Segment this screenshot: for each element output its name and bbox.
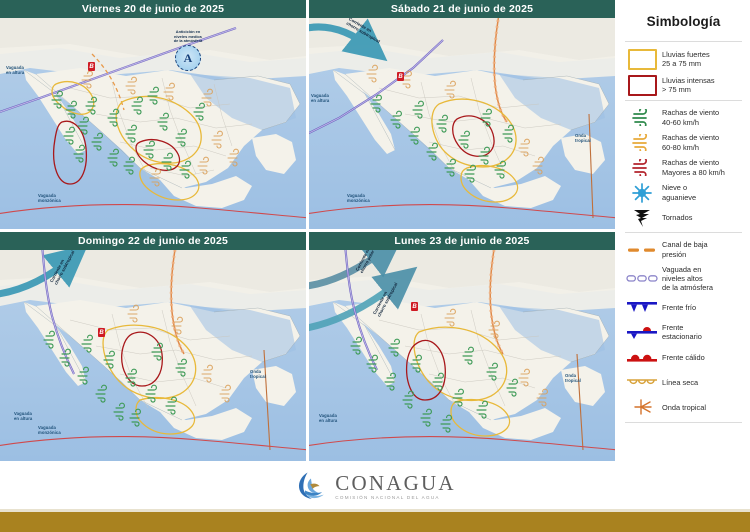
legend-label: Vaguada en niveles altos de la atmósfera (659, 265, 713, 293)
low-pressure-marker: B (411, 302, 418, 311)
warm-front-icon (625, 352, 659, 363)
legend-title: Simbología (617, 0, 750, 39)
tropical-wave-icon (625, 399, 659, 415)
legend-label: Línea seca (659, 378, 698, 387)
legend-item-onda-tropical[interactable]: Onda tropical (617, 395, 750, 420)
map-panel-sabado[interactable]: Sábado 21 de junio de 2025 (309, 0, 615, 229)
map-canvas-sabado[interactable]: Corriente en chorro subtropical Vaguada … (309, 18, 615, 229)
legend-divider-1 (625, 100, 742, 101)
panel-title-sabado: Sábado 21 de junio de 2025 (309, 0, 615, 18)
legend-item-nieve[interactable]: Nieve o aguanieve (617, 180, 750, 205)
legend-label: Onda tropical (659, 403, 706, 412)
conagua-wordmark: CONAGUA (335, 473, 455, 494)
upper-level-trough-icon (625, 274, 659, 283)
legend-panel: Simbología Lluvias fuertes 25 a 75 mm Ll… (617, 0, 750, 463)
stationary-front-icon (625, 326, 659, 339)
map-graphic-domingo (0, 250, 306, 461)
low-pressure-trough-icon (625, 246, 659, 254)
legend-label: Lluvias fuertes 25 a 75 mm (659, 50, 710, 69)
map-graphic-sabado (309, 18, 615, 229)
legend-label: Canal de baja presión (659, 240, 708, 259)
legend-item-linea-seca[interactable]: Línea seca (617, 370, 750, 395)
legend-label: Nieve o aguanieve (659, 183, 696, 202)
anticyclone-marker: Anticiclón en niveles medios de la atmós… (160, 30, 216, 71)
legend-item-rachas-40-60[interactable]: Rachas de viento 40-60 km/h (617, 105, 750, 130)
panel-title-lunes: Lunes 23 de junio de 2025 (309, 232, 615, 250)
low-pressure-marker: B (88, 62, 95, 71)
wind-gust-red-icon (625, 159, 659, 176)
legend-label: Frente estacionario (659, 323, 702, 342)
anticyclone-caption: Anticiclón en niveles medios de la atmós… (160, 30, 216, 44)
legend-label: Tornados (659, 213, 692, 222)
legend-divider-2 (625, 232, 742, 233)
panel-title-domingo: Domingo 22 de junio de 2025 (0, 232, 306, 250)
legend-item-frente-frio[interactable]: Frente frío (617, 295, 750, 320)
legend-label: Lluvias intensas > 75 mm (659, 76, 715, 95)
legend-divider-top (625, 41, 742, 42)
map-graphic-viernes (0, 18, 306, 229)
conagua-logo: CONAGUA COMISIÓN NACIONAL DEL AGUA (294, 470, 455, 504)
map-canvas-viernes[interactable]: Vaguada en altura Vaguada monzónica Anti… (0, 18, 306, 229)
legend-divider-bottom (625, 422, 742, 423)
rain-box-yellow-icon (625, 49, 659, 70)
legend-item-vaguada-niveles-altos[interactable]: Vaguada en niveles altos de la atmósfera (617, 262, 750, 295)
map-canvas-lunes[interactable]: Corriente en chorro polar Corriente en c… (309, 250, 615, 461)
panel-title-viernes: Viernes 20 de junio de 2025 (0, 0, 306, 18)
low-pressure-marker: B (397, 72, 404, 81)
footer-brand-bar: CONAGUA COMISIÓN NACIONAL DEL AGUA (0, 463, 750, 511)
tornado-icon (625, 208, 659, 227)
wind-gust-green-icon (625, 109, 659, 126)
legend-item-rachas-60-80[interactable]: Rachas de viento 60-80 km/h (617, 130, 750, 155)
snow-sleet-icon (625, 183, 659, 203)
wind-gust-orange-icon (625, 134, 659, 151)
legend-label: Rachas de viento Mayores a 80 km/h (659, 158, 725, 177)
rain-box-red-icon (625, 75, 659, 96)
weather-forecast-infographic: Viernes 20 de junio de 2025 (0, 0, 750, 532)
legend-item-lluvias-intensas[interactable]: Lluvias intensas > 75 mm (617, 72, 750, 98)
low-pressure-marker: B (98, 328, 105, 337)
legend-item-frente-estacionario[interactable]: Frente estacionario (617, 320, 750, 345)
conagua-eagle-water-icon (294, 470, 328, 504)
legend-item-rachas-mayores-80[interactable]: Rachas de viento Mayores a 80 km/h (617, 155, 750, 180)
conagua-subtitle: COMISIÓN NACIONAL DEL AGUA (335, 496, 455, 501)
cold-front-icon (625, 301, 659, 313)
map-panel-domingo[interactable]: Domingo 22 de junio de 2025 (0, 232, 306, 461)
legend-item-lluvias-fuertes[interactable]: Lluvias fuertes 25 a 75 mm (617, 46, 750, 72)
legend-label: Rachas de viento 60-80 km/h (659, 133, 719, 152)
legend-label: Rachas de viento 40-60 km/h (659, 108, 719, 127)
legend-item-frente-calido[interactable]: Frente cálido (617, 345, 750, 370)
legend-item-canal-baja-presion[interactable]: Canal de baja presión (617, 237, 750, 262)
map-panel-grid: Viernes 20 de junio de 2025 (0, 0, 615, 463)
legend-item-tornados[interactable]: Tornados (617, 205, 750, 230)
legend-label: Frente cálido (659, 353, 705, 362)
legend-label: Frente frío (659, 303, 696, 312)
map-panel-viernes[interactable]: Viernes 20 de junio de 2025 (0, 0, 306, 229)
map-canvas-domingo[interactable]: Corriente en chorro subtropical Vaguada … (0, 250, 306, 461)
anticyclone-a-icon: A (175, 45, 201, 71)
map-panel-lunes[interactable]: Lunes 23 de junio de 2025 (309, 232, 615, 461)
footer-gold-bar (0, 512, 750, 532)
map-graphic-lunes (309, 250, 615, 461)
dry-line-icon (625, 377, 659, 388)
